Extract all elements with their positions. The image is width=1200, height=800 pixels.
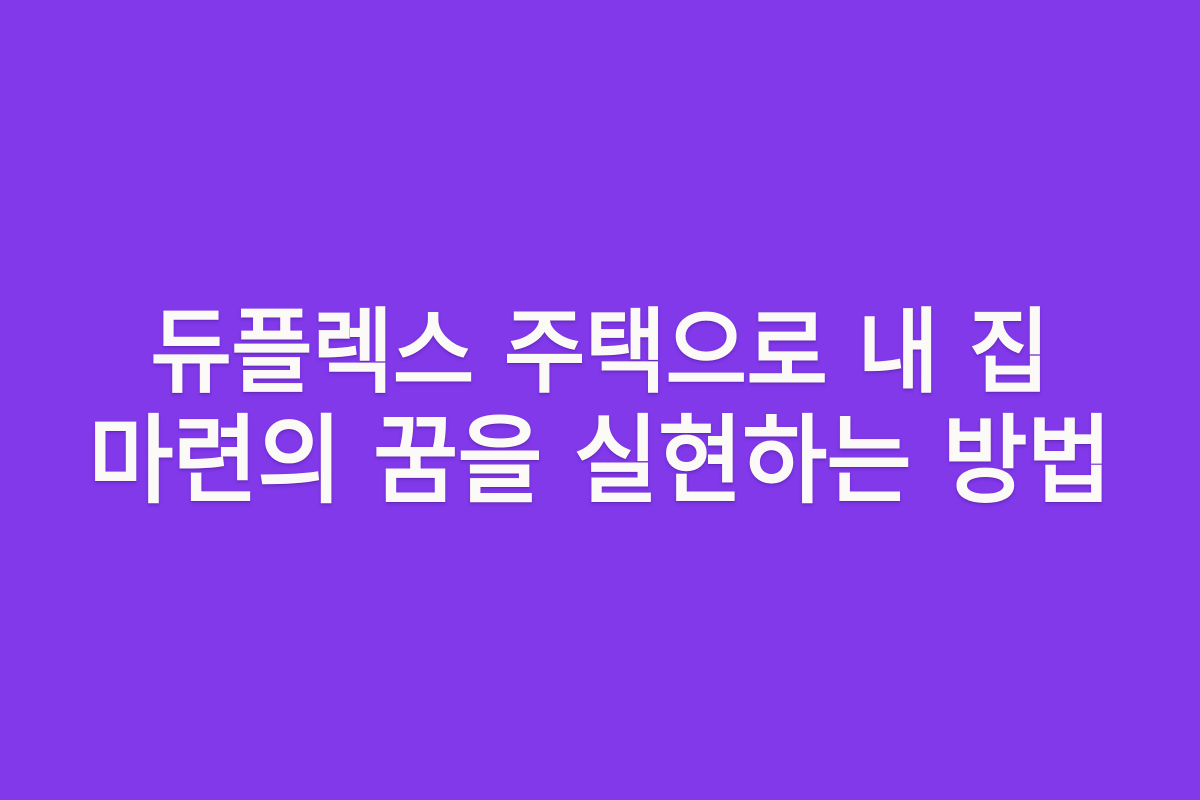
headline-block: 듀플렉스 주택으로 내 집 마련의 꿈을 실현하는 방법 [0, 299, 1200, 515]
headline-line-1: 듀플렉스 주택으로 내 집 [41, 299, 1159, 407]
banner-canvas: 듀플렉스 주택으로 내 집 마련의 꿈을 실현하는 방법 [0, 0, 1200, 800]
headline-line-2: 마련의 꿈을 실현하는 방법 [41, 407, 1159, 515]
